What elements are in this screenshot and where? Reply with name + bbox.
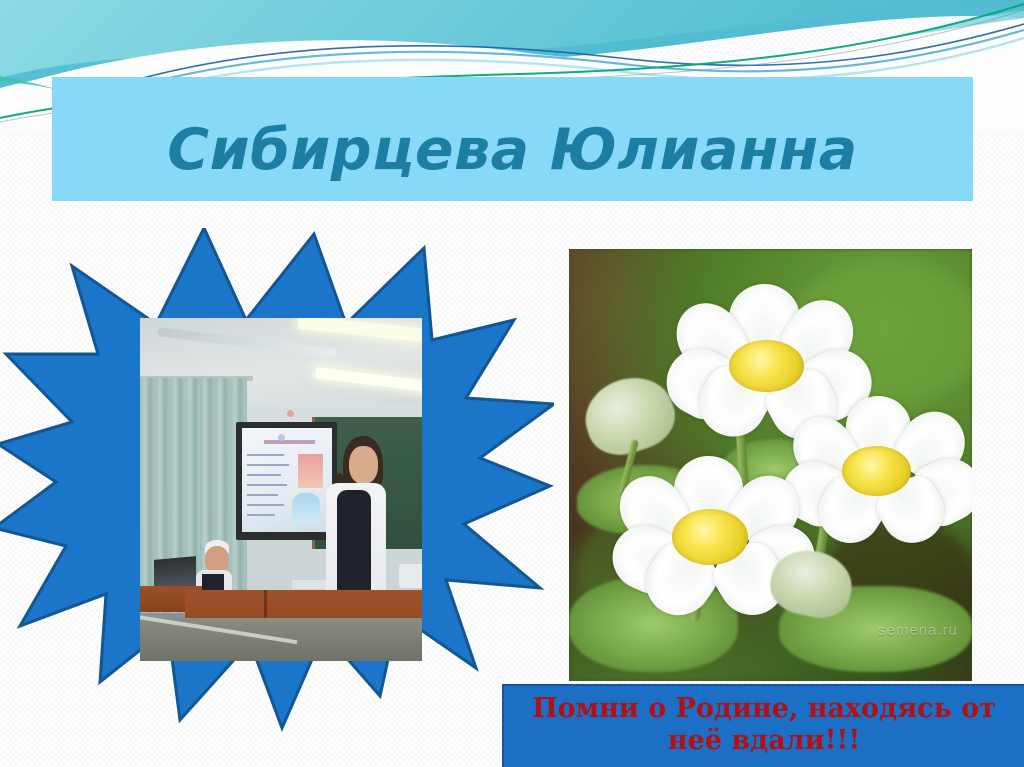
photo-screen-text-line — [247, 494, 278, 496]
photo-screen-text-line — [247, 474, 281, 476]
flower-photo: semena.ru — [569, 249, 972, 681]
photo-screen-text-line — [247, 504, 284, 506]
photo-book — [292, 580, 326, 589]
photo-student-face — [349, 446, 378, 484]
flower-watermark: semena.ru — [878, 622, 958, 639]
classroom-photo — [140, 318, 422, 661]
photo-screen-image — [292, 493, 320, 523]
photo-screen-text-line — [247, 464, 289, 466]
photo-sink — [399, 564, 422, 588]
photo-screen-text-line — [247, 454, 284, 456]
photo-screen-text-line — [247, 514, 275, 516]
flower-center — [729, 340, 804, 393]
photo-student-vest — [337, 490, 371, 594]
photo-screen-text-line — [247, 484, 286, 486]
photo-screen-title-line — [264, 440, 315, 444]
page-title: Сибирцева Юлианна — [167, 100, 857, 179]
caption-box: Помни о Родине, находясь от неё вдали!!! — [502, 684, 1024, 767]
photo-screen-image — [298, 454, 323, 488]
flower-center — [672, 509, 749, 565]
presentation-slide: Сибирцева Юлианна — [0, 0, 1024, 767]
caption-text: Помни о Родине, находясь от неё вдали!!! — [518, 693, 1010, 756]
flower-center — [842, 446, 911, 496]
photo-wall-sticker — [287, 410, 294, 417]
title-banner: Сибирцева Юлианна — [52, 77, 973, 201]
